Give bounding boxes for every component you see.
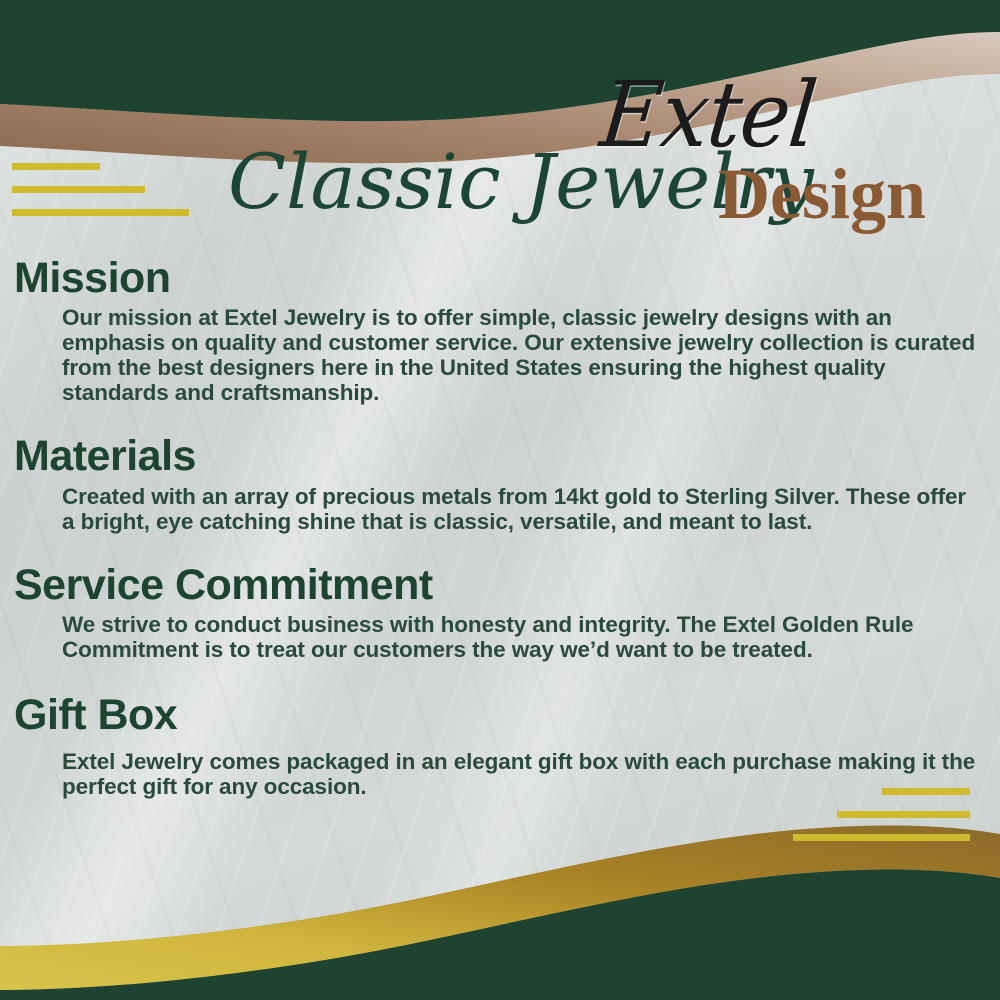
page-title: Classic Jewelry Design	[0, 150, 1000, 260]
section-mission: Mission Our mission at Extel Jewelry is …	[0, 255, 1000, 405]
section-heading-materials: Materials	[14, 433, 1000, 479]
section-body-mission: Our mission at Extel Jewelry is to offer…	[62, 305, 980, 405]
section-body-materials: Created with an array of precious metals…	[62, 484, 980, 534]
bottom-right-accent-lines	[793, 788, 970, 857]
section-gift-box: Gift Box Extel Jewelry comes packaged in…	[0, 692, 1000, 798]
accent-line	[837, 811, 970, 818]
section-heading-service-commitment: Service Commitment	[14, 562, 1000, 608]
content-sections: Mission Our mission at Extel Jewelry is …	[0, 255, 1000, 803]
section-heading-mission: Mission	[14, 255, 1000, 301]
accent-line	[793, 834, 970, 841]
section-materials: Materials Created with an array of preci…	[0, 433, 1000, 533]
title-secondary: Design	[718, 158, 926, 230]
poster: Extel Classic Jewelry Design Mission Our…	[0, 0, 1000, 1000]
section-heading-gift-box: Gift Box	[14, 692, 1000, 738]
section-service-commitment: Service Commitment We strive to conduct …	[0, 562, 1000, 662]
section-body-service-commitment: We strive to conduct business with hones…	[62, 612, 980, 662]
accent-line	[882, 788, 970, 795]
